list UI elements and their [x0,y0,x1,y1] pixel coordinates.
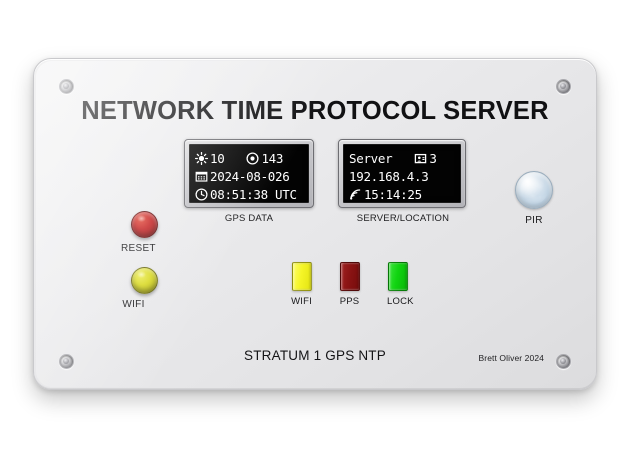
reset-button-label: RESET [121,243,146,254]
gps-date-value: 2024-08-026 [210,169,289,184]
led-pps-cell: PPS [339,262,360,307]
gps-display-screen: 10 143 [189,144,309,203]
led-pps [340,262,360,291]
led-lock [388,262,408,291]
gps-display-label: GPS DATA [184,213,314,224]
calendar-icon [195,170,208,183]
led-wifi-label: WIFI [291,296,312,307]
gps-time-value: 08:51:38 UTC [210,187,297,202]
gps-row-date: 2024-08-026 [195,167,303,185]
led-wifi-cell: WIFI [291,262,312,307]
led-wifi [292,262,312,291]
led-pps-label: PPS [339,296,360,307]
reset-button[interactable] [131,211,158,238]
wifi-button-group: WIFI [131,267,158,310]
gps-row-time: 08:51:38 UTC [195,185,303,203]
screw-top-left [59,79,74,94]
panel-title: NETWORK TIME PROTOCOL SERVER [34,97,596,126]
server-label-text: Server [349,151,392,166]
led-lock-cell: LOCK [387,262,408,307]
gps-display: 10 143 [184,139,314,208]
gps-row-satellites: 10 143 [195,149,303,167]
pir-sensor-label: PIR [512,215,556,226]
screw-top-right [556,79,571,94]
server-ip-value: 192.168.4.3 [349,169,428,184]
wifi-button[interactable] [131,267,158,294]
gps-display-bezel: 10 143 [184,139,314,208]
gps-altitude-value: 143 [261,151,283,166]
server-localtime-value: 15:14:25 [364,187,422,202]
wifi-button-label: WIFI [121,299,146,310]
gps-satellites-value: 10 [210,151,224,166]
server-display-label: SERVER/LOCATION [338,213,468,224]
status-led-row: WIFI PPS LOCK [291,262,408,307]
server-display-screen: Server 3 192.168.4.3 [343,144,461,203]
server-index-value: 3 [429,151,436,166]
pir-sensor-group: PIR [512,171,556,226]
server-row-name: Server 3 [349,149,455,167]
fix-target-icon [246,152,259,165]
reset-button-group: RESET [131,211,158,254]
footer-credit-text: Brett Oliver 2024 [479,353,544,363]
clock-icon [195,188,208,201]
device-enclosure: NETWORK TIME PROTOCOL SERVER [33,58,597,390]
led-lock-label: LOCK [387,296,408,307]
wifi-signal-icon [349,188,362,201]
server-display-bezel: Server 3 192.168.4.3 [338,139,466,208]
pir-sensor-dome [515,171,553,209]
server-row-localtime: 15:14:25 [349,185,455,203]
server-display: Server 3 192.168.4.3 [338,139,466,208]
server-row-ip: 192.168.4.3 [349,167,455,185]
id-badge-icon [414,152,427,165]
satellite-icon [195,152,208,165]
